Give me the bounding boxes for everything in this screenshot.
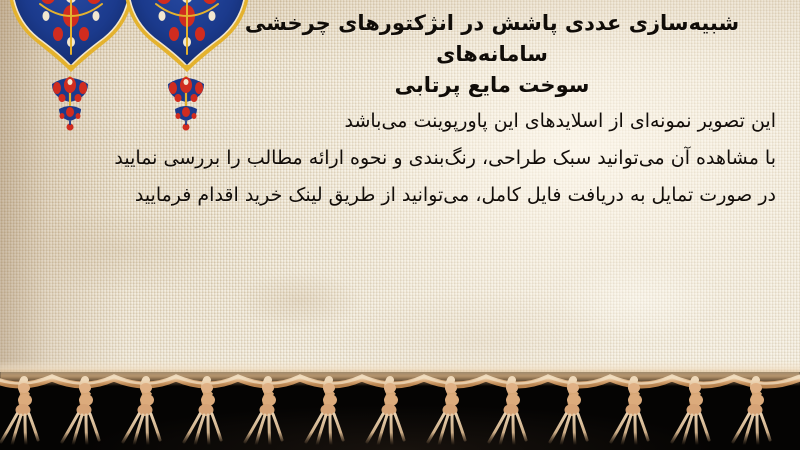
slide-body-line-1: این تصویر نمونه‌ای از اسلایدهای این پاور… (24, 112, 776, 131)
slide-title-line-2: سوخت مایع پرتابی (212, 70, 772, 101)
text-layer: شبیه‌سازی عددی پاشش در انژکتورهای چرخشی … (0, 0, 800, 450)
slide-body-line-2: با مشاهده آن می‌توانید سبک طراحی، رنگ‌بن… (24, 149, 776, 168)
slide-body: این تصویر نمونه‌ای از اسلایدهای این پاور… (24, 112, 776, 205)
slide-title-line-1: شبیه‌سازی عددی پاشش در انژکتورهای چرخشی … (212, 8, 772, 70)
slide-title: شبیه‌سازی عددی پاشش در انژکتورهای چرخشی … (212, 8, 772, 101)
slide-body-line-3: در صورت تمایل به دریافت فایل کامل، می‌تو… (24, 186, 776, 205)
slide-canvas: شبیه‌سازی عددی پاشش در انژکتورهای چرخشی … (0, 0, 800, 450)
